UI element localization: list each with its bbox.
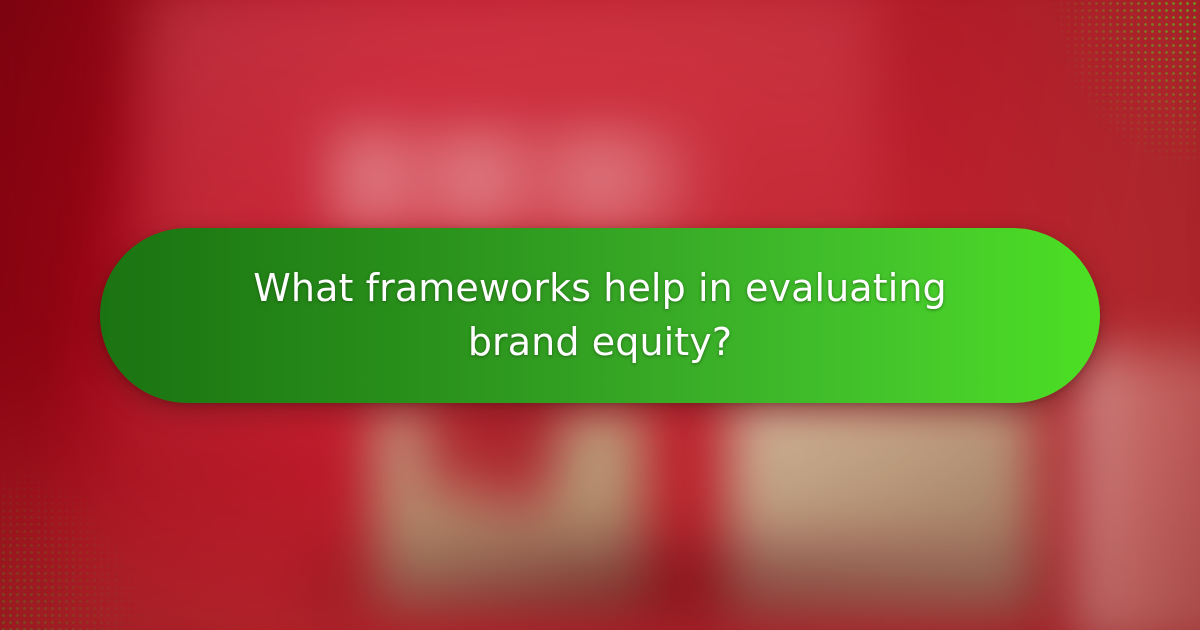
question-card: What frameworks help in evaluating brand… xyxy=(0,0,1200,630)
question-banner: What frameworks help in evaluating brand… xyxy=(100,228,1100,403)
question-text: What frameworks help in evaluating brand… xyxy=(220,262,980,370)
